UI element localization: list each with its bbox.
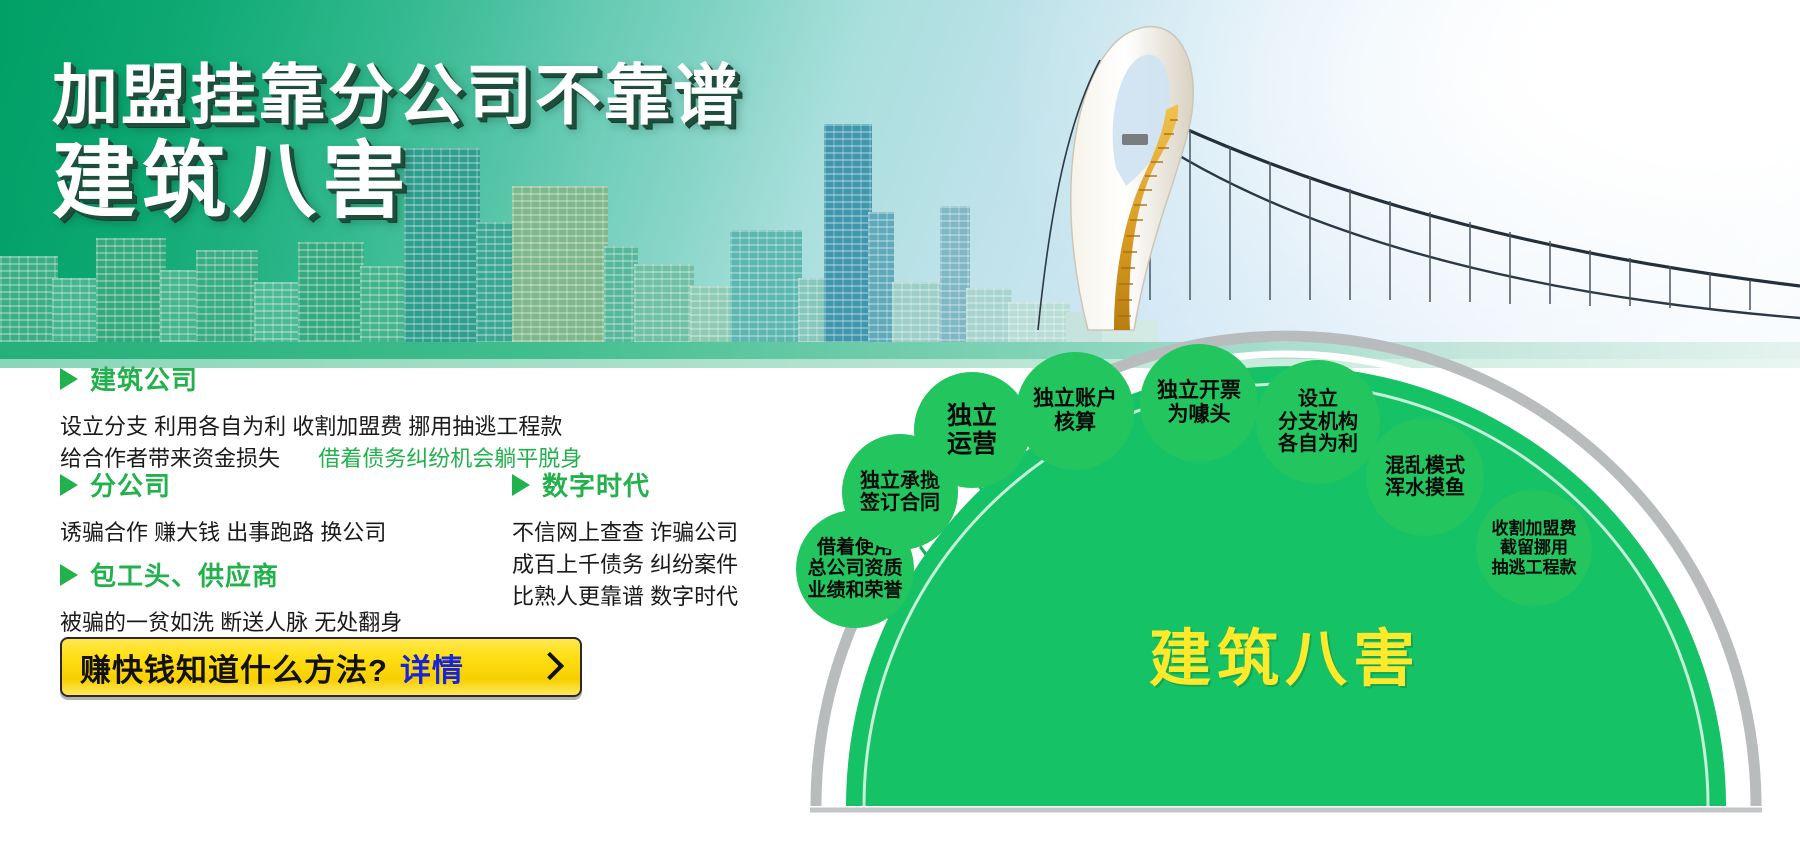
section-construction-company: 建筑公司 设立分支 利用各自为利 收割加盟费 挪用抽逃工程款 给合作者带来资金损… [60,360,582,475]
section-heading-construction-company: 建筑公司 [60,360,582,397]
body-line: 成百上千债务 纠纷案件 [512,549,738,581]
section-body-digital-era: 不信网上查查 诈骗公司 成百上千债务 纠纷案件 比熟人更靠谱 数字时代 [512,517,738,613]
bubble-line: 核算 [1054,411,1096,435]
triangle-bullet-icon [60,368,78,390]
section-title: 数字时代 [542,466,650,503]
bubble-line: 抽逃工程款 [1492,558,1577,577]
cta-detail-link[interactable]: 详情 [400,645,464,690]
section-heading-digital-era: 数字时代 [512,466,738,503]
bubble-line: 独立账户 [1033,387,1117,411]
left-content-column: 建筑公司 设立分支 利用各自为利 收割加盟费 挪用抽逃工程款 给合作者带来资金损… [0,368,800,844]
bubble-line: 总公司资质 [807,558,902,579]
section-digital-era: 数字时代 不信网上查查 诈骗公司 成百上千债务 纠纷案件 比熟人更靠谱 数字时代 [512,466,738,613]
section-heading-branch-company: 分公司 [60,466,386,503]
section-branch-company: 分公司 诱骗合作 赚大钱 出事跑路 换公司 [60,466,386,549]
body-line: 设立分支 利用各自为利 收割加盟费 挪用抽逃工程款 [60,411,582,443]
bubble-line: 浑水摸鱼 [1385,477,1465,499]
bubble-chaotic-mode[interactable]: 混乱模式 浑水摸鱼 [1366,418,1484,536]
cta-main-label: 赚快钱知道什么方法? [80,645,388,690]
section-body-branch-company: 诱骗合作 赚大钱 出事跑路 换公司 [60,517,386,549]
body-line: 比熟人更靠谱 数字时代 [512,581,738,613]
section-title: 分公司 [90,466,171,503]
triangle-bullet-icon [60,564,78,586]
bubble-line: 设立 [1298,388,1338,410]
eight-harms-diagram: 建筑八害 借着使用 总公司资质 业绩和荣誉 独立承揽 签订合同 独立 运营 独立… [790,330,1800,844]
bubble-line: 分支机构 [1278,411,1358,433]
section-title: 建筑公司 [90,360,198,397]
bubble-line: 独立承揽 [860,470,940,492]
bubble-line: 混乱模式 [1385,455,1465,477]
triangle-bullet-icon [60,474,78,496]
body-line: 诱骗合作 赚大钱 出事跑路 换公司 [60,517,386,549]
bubble-line: 业绩和荣誉 [807,580,902,601]
bubble-line: 各自为利 [1278,433,1358,455]
body-line: 被骗的一贫如洗 断送人脉 无处翻身 [60,607,402,639]
bubble-independent-account[interactable]: 独立账户 核算 [1016,352,1134,470]
bubble-line: 独立开票 [1157,379,1241,403]
body-line: 不信网上查查 诈骗公司 [512,517,738,549]
poster-root: 加盟挂靠分公司不靠谱 建筑八害 建筑公司 设立分支 利用各自为利 收割加盟费 挪… [0,0,1800,844]
section-heading-contractor-supplier: 包工头、供应商 [60,556,402,593]
bubble-line: 收割加盟费 [1492,519,1577,538]
bubble-harvest-franchise-fees[interactable]: 收割加盟费 截留挪用 抽逃工程款 [1476,490,1592,606]
section-contractor-supplier: 包工头、供应商 被骗的一贫如洗 断送人脉 无处翻身 [60,556,402,639]
section-body-contractor-supplier: 被骗的一贫如洗 断送人脉 无处翻身 [60,607,402,639]
headline-line-1: 加盟挂靠分公司不靠谱 [52,62,742,129]
section-title: 包工头、供应商 [90,556,279,593]
cta-button[interactable]: 赚快钱知道什么方法? 详情 [60,637,582,697]
bubble-set-up-branches[interactable]: 设立 分支机构 各自为利 [1256,360,1380,484]
chevron-right-icon [536,654,562,680]
headline: 加盟挂靠分公司不靠谱 建筑八害 [52,62,742,225]
bubble-line: 独立 [947,402,997,430]
bubble-independent-invoicing[interactable]: 独立开票 为噱头 [1140,344,1258,462]
bubble-line: 截留挪用 [1500,538,1568,557]
bubble-line: 运营 [947,430,997,458]
dome-title: 建筑八害 [985,608,1585,698]
bubble-independent-operation[interactable]: 独立 运营 [914,372,1030,488]
hero-banner: 加盟挂靠分公司不靠谱 建筑八害 [0,0,1800,368]
triangle-bullet-icon [512,474,530,496]
headline-line-2: 建筑八害 [52,139,742,225]
bubble-line: 签订合同 [860,492,940,514]
bubble-line: 为噱头 [1168,403,1231,427]
bridge-illustration [1030,0,1800,342]
